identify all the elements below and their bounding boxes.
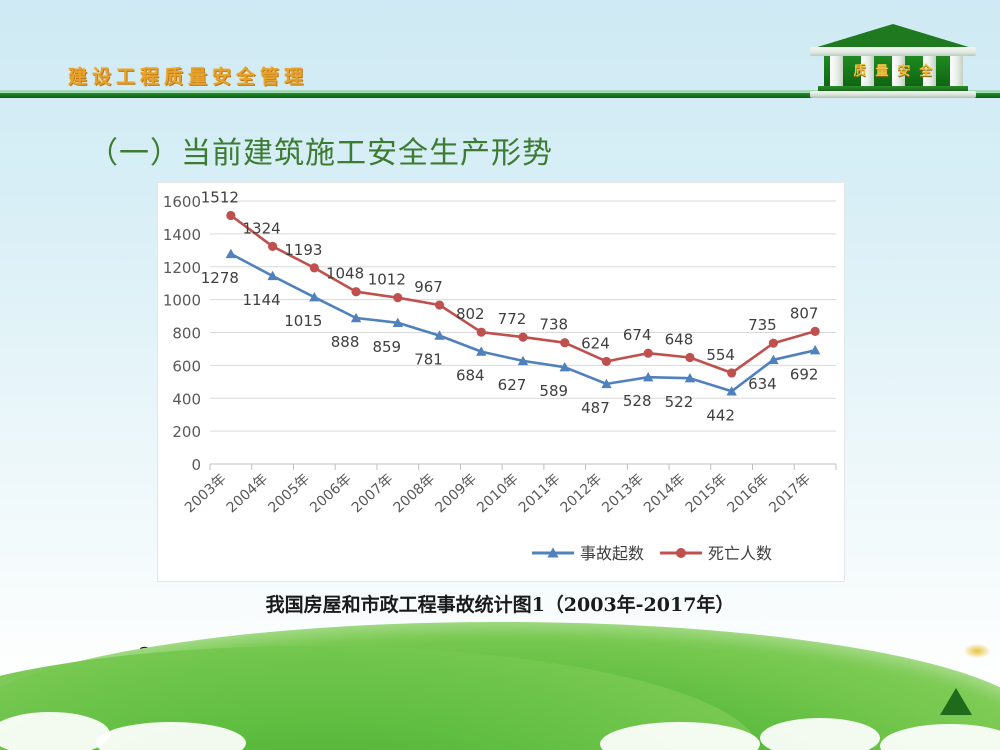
- x-axis-tick-label: 2017年: [766, 471, 814, 516]
- data-label: 589: [539, 382, 568, 400]
- y-axis-tick-label: 200: [172, 423, 201, 441]
- data-label: 1193: [284, 241, 322, 259]
- legend-marker: [676, 548, 686, 558]
- data-label: 888: [331, 333, 360, 351]
- data-label: 1278: [201, 269, 239, 287]
- data-point-marker: [268, 242, 277, 251]
- accident-statistics-line-chart: 02004006008001000120014001600 2003年2004年…: [158, 183, 844, 581]
- data-point-marker: [226, 249, 236, 258]
- y-axis-tick-label: 0: [191, 456, 201, 474]
- greek-temple-icon: 质量安全: [808, 24, 978, 98]
- x-axis-tick-label: 2003年: [182, 471, 230, 516]
- data-label: 1144: [243, 291, 281, 309]
- cloud-decoration: [760, 718, 880, 750]
- data-point-marker: [477, 328, 486, 337]
- data-label: 648: [665, 330, 694, 348]
- x-axis-tick-label: 2010年: [474, 471, 522, 516]
- data-label: 634: [748, 375, 777, 393]
- data-point-marker: [351, 287, 360, 296]
- data-point-marker: [644, 349, 653, 358]
- data-label: 674: [623, 326, 652, 344]
- data-label: 487: [581, 399, 610, 417]
- data-label: 624: [581, 334, 610, 352]
- data-point-marker: [226, 211, 235, 220]
- chart-xaxis-ticks: [210, 464, 836, 470]
- x-axis-tick-label: 2005年: [265, 471, 313, 516]
- logo-base-lower: [810, 91, 976, 98]
- data-label: 967: [414, 278, 443, 296]
- logo-roof: [814, 24, 972, 48]
- data-label: 738: [539, 316, 568, 334]
- slide: 建设工程质量安全管理 质量安全 （一）当前建筑施工安全生产形势 02004006…: [0, 0, 1000, 750]
- data-label: 522: [665, 393, 694, 411]
- data-point-marker: [811, 327, 820, 336]
- data-label: 684: [456, 367, 485, 385]
- data-label: 554: [706, 346, 735, 364]
- data-point-marker: [769, 339, 778, 348]
- data-label: 1012: [368, 271, 406, 289]
- data-point-marker: [602, 357, 611, 366]
- y-axis-tick-label: 400: [172, 390, 201, 408]
- data-point-marker: [310, 263, 319, 272]
- page-title: 建设工程质量安全管理: [68, 62, 308, 89]
- data-point-marker: [560, 338, 569, 347]
- data-point-marker: [810, 345, 820, 354]
- y-axis-tick-label: 1600: [163, 193, 201, 211]
- y-axis-tick-label: 1200: [163, 259, 201, 277]
- data-label: 442: [706, 406, 735, 424]
- x-axis-tick-label: 2013年: [599, 471, 647, 516]
- data-point-marker: [518, 333, 527, 342]
- data-point-marker: [727, 368, 736, 377]
- data-point-marker: [393, 293, 402, 302]
- data-label: 1048: [326, 265, 364, 283]
- x-axis-tick-label: 2012年: [558, 471, 606, 516]
- sun-glow-decoration: [964, 644, 990, 658]
- data-label: 802: [456, 305, 485, 323]
- data-label: 692: [790, 365, 819, 383]
- legend-label: 死亡人数: [708, 544, 772, 563]
- y-axis-tick-label: 1000: [163, 292, 201, 310]
- data-point-marker: [435, 300, 444, 309]
- data-label: 772: [498, 310, 527, 328]
- section-heading: （一）当前建筑施工安全生产形势: [88, 128, 553, 172]
- chart-caption: 我国房屋和市政工程事故统计图1（2003年-2017年）: [0, 590, 1000, 617]
- x-axis-tick-label: 2014年: [641, 471, 689, 516]
- x-axis-tick-label: 2015年: [683, 471, 731, 516]
- data-label: 627: [498, 376, 527, 394]
- y-axis-tick-label: 800: [172, 325, 201, 343]
- logo-architrave: [810, 47, 976, 56]
- chart-legend: 事故起数死亡人数: [532, 544, 772, 563]
- chart-xaxis-labels: 2003年2004年2005年2006年2007年2008年2009年2010年…: [182, 471, 814, 516]
- up-triangle-icon[interactable]: [940, 688, 972, 715]
- y-axis-tick-label: 600: [172, 357, 201, 375]
- x-axis-tick-label: 2016年: [724, 471, 772, 516]
- data-label: 781: [414, 351, 443, 369]
- x-axis-tick-label: 2011年: [516, 471, 564, 516]
- data-label: 1015: [284, 312, 322, 330]
- data-label: 859: [372, 338, 401, 356]
- data-label: 1512: [201, 188, 239, 206]
- chart-panel: 02004006008001000120014001600 2003年2004年…: [157, 182, 845, 582]
- chart-yaxis-labels: 02004006008001000120014001600: [163, 193, 201, 474]
- x-axis-tick-label: 2006年: [307, 471, 355, 516]
- y-axis-tick-label: 1400: [163, 226, 201, 244]
- logo-label: 质量安全: [808, 60, 978, 79]
- x-axis-tick-label: 2007年: [349, 471, 397, 516]
- data-label: 1324: [243, 219, 281, 237]
- chart-series: [226, 211, 821, 396]
- data-point-marker: [685, 353, 694, 362]
- x-axis-tick-label: 2004年: [224, 471, 272, 516]
- legend-label: 事故起数: [580, 544, 644, 563]
- data-label: 735: [748, 316, 777, 334]
- x-axis-tick-label: 2008年: [391, 471, 439, 516]
- x-axis-tick-label: 2009年: [432, 471, 480, 516]
- data-label: 807: [790, 304, 819, 322]
- data-label: 528: [623, 392, 652, 410]
